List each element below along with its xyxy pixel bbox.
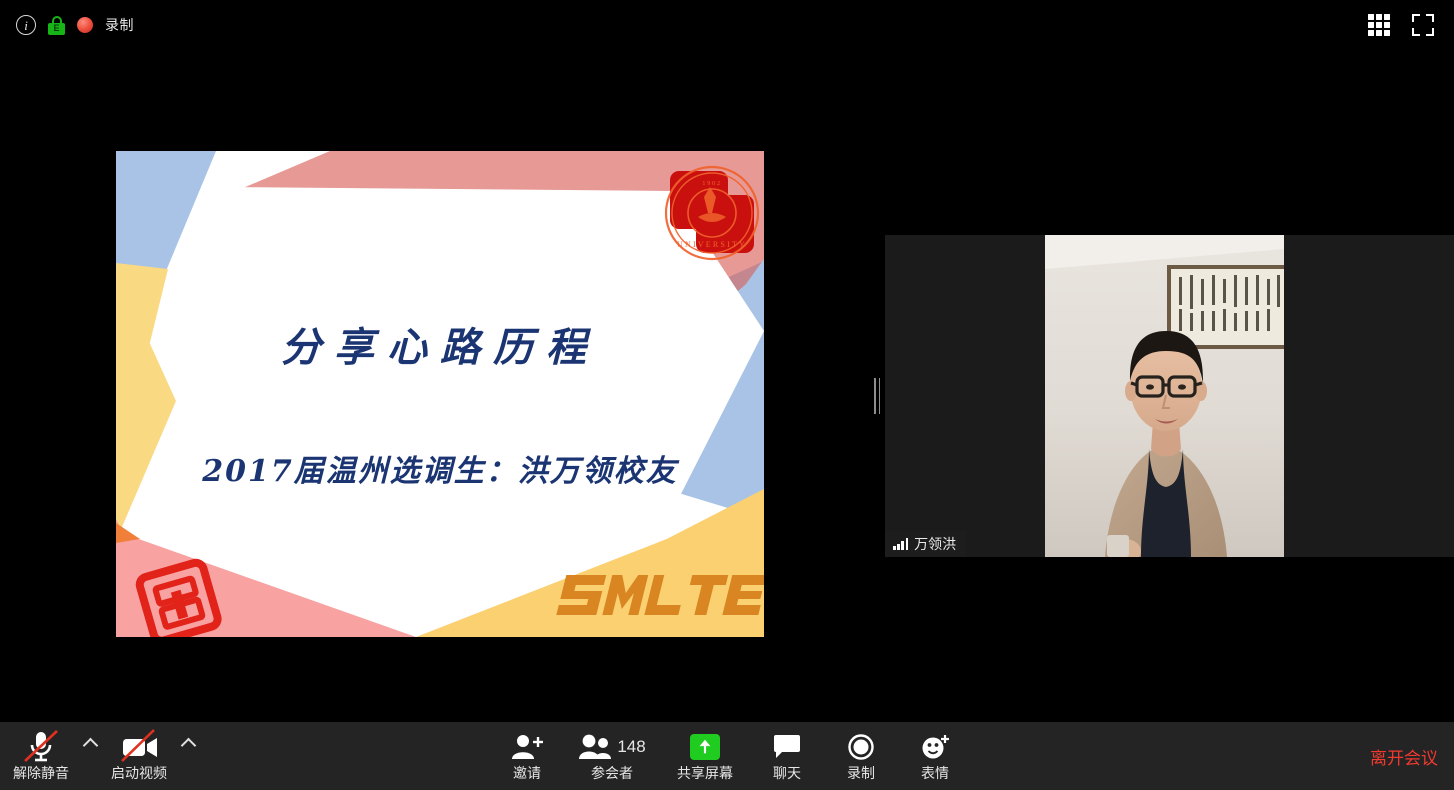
shared-screen-area[interactable]: UNIVERSITY 1902 <box>0 50 876 722</box>
share-screen-icon <box>690 734 720 760</box>
camera-off-icon <box>117 730 161 764</box>
university-seal-logo: UNIVERSITY 1902 <box>666 167 758 259</box>
video-feed <box>1045 235 1284 557</box>
meeting-toolbar: 解除静音 启动视频 <box>0 722 1454 790</box>
reaction-smiley-icon <box>920 730 950 764</box>
toolbar-label-video: 启动视频 <box>111 766 167 780</box>
toolbar-button-participants[interactable]: 148 参会者 <box>564 724 660 786</box>
toolbar-label-record: 录制 <box>847 766 875 780</box>
slide-subtitle: 2017届温州选调生：洪万领校友 <box>116 446 764 490</box>
top-bar-left-group: i E 录制 <box>0 15 134 35</box>
recording-dot-icon <box>77 17 93 33</box>
recording-status-label: 录制 <box>105 15 134 35</box>
chat-bubble-icon <box>772 730 802 764</box>
record-circle-icon <box>847 730 875 764</box>
toolbar-label-mute: 解除静音 <box>13 766 69 780</box>
participant-video-tile[interactable]: 万领洪 <box>885 235 1454 557</box>
leave-meeting-button[interactable]: 离开会议 <box>1370 722 1438 790</box>
presentation-slide: UNIVERSITY 1902 <box>116 151 764 637</box>
participants-icon <box>578 733 614 761</box>
microphone-muted-icon <box>21 730 61 764</box>
video-options-chevron-icon[interactable] <box>176 724 200 786</box>
fullscreen-icon[interactable] <box>1412 14 1434 36</box>
toolbar-label-invite: 邀请 <box>513 766 541 780</box>
svg-text:1902: 1902 <box>702 180 721 187</box>
video-frame-image <box>1045 235 1284 557</box>
panel-drag-handle[interactable] <box>872 376 882 416</box>
participant-name-label: 万领洪 <box>914 534 956 554</box>
video-panel: 万领洪 <box>885 50 1454 722</box>
info-icon[interactable]: i <box>16 15 36 35</box>
toolbar-label-reactions: 表情 <box>921 766 949 780</box>
top-bar-right-group <box>1368 14 1454 36</box>
participants-count: 148 <box>617 737 645 757</box>
toolbar-label-share-screen: 共享屏幕 <box>677 766 733 780</box>
participants-icon-group: 148 <box>578 730 645 764</box>
toolbar-label-participants: 参会者 <box>591 766 633 780</box>
toolbar-button-record[interactable]: 录制 <box>824 724 898 786</box>
slide-title: 分享心路历程 <box>116 315 764 373</box>
toolbar-button-reactions[interactable]: 表情 <box>898 724 972 786</box>
add-person-icon <box>510 730 544 764</box>
svg-text:UNIVERSITY: UNIVERSITY <box>677 240 747 249</box>
toolbar-button-chat[interactable]: 聊天 <box>750 724 824 786</box>
toolbar-button-invite[interactable]: 邀请 <box>490 724 564 786</box>
lock-body: E <box>48 23 65 35</box>
share-screen-icon-wrap <box>690 730 720 764</box>
slide-background-graphic: UNIVERSITY 1902 <box>116 151 764 637</box>
mute-options-chevron-icon[interactable] <box>78 724 102 786</box>
signal-bars-icon <box>893 538 908 550</box>
zoom-meeting-window: i E 录制 <box>0 0 1454 790</box>
toolbar-center-group: 邀请 148 参会者 <box>490 724 972 786</box>
grid-view-icon[interactable] <box>1368 14 1390 36</box>
toolbar-button-video[interactable]: 启动视频 <box>102 724 176 786</box>
toolbar-left-group: 解除静音 启动视频 <box>4 724 200 786</box>
meeting-top-bar: i E 录制 <box>0 0 1454 50</box>
encryption-lock-icon[interactable]: E <box>48 16 65 35</box>
toolbar-button-share-screen[interactable]: 共享屏幕 <box>660 724 750 786</box>
toolbar-label-chat: 聊天 <box>773 766 801 780</box>
meeting-stage: UNIVERSITY 1902 <box>0 50 1454 722</box>
participant-name-badge: 万领洪 <box>885 531 966 557</box>
toolbar-button-mute[interactable]: 解除静音 <box>4 724 78 786</box>
